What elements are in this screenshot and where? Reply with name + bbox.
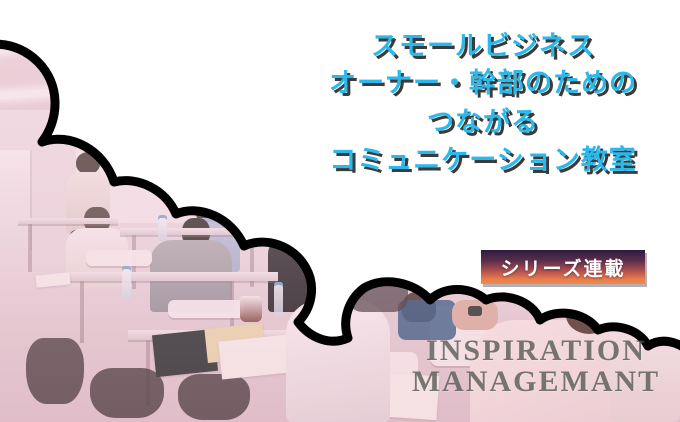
- title-line-4: コミュニケーション教室: [286, 144, 680, 177]
- title-line-1: スモールビジネス: [286, 30, 680, 63]
- seminar-banner: スモールビジネス オーナー・幹部のための つながる コミュニケーション教室 シリ…: [0, 0, 680, 422]
- title-line-3: つながる: [286, 106, 680, 139]
- series-badge-label: シリーズ連載: [500, 254, 625, 281]
- series-badge: シリーズ連載: [481, 250, 645, 284]
- title-block: スモールビジネス オーナー・幹部のための つながる コミュニケーション教室: [286, 30, 680, 177]
- title-line-2: オーナー・幹部のための: [286, 67, 680, 100]
